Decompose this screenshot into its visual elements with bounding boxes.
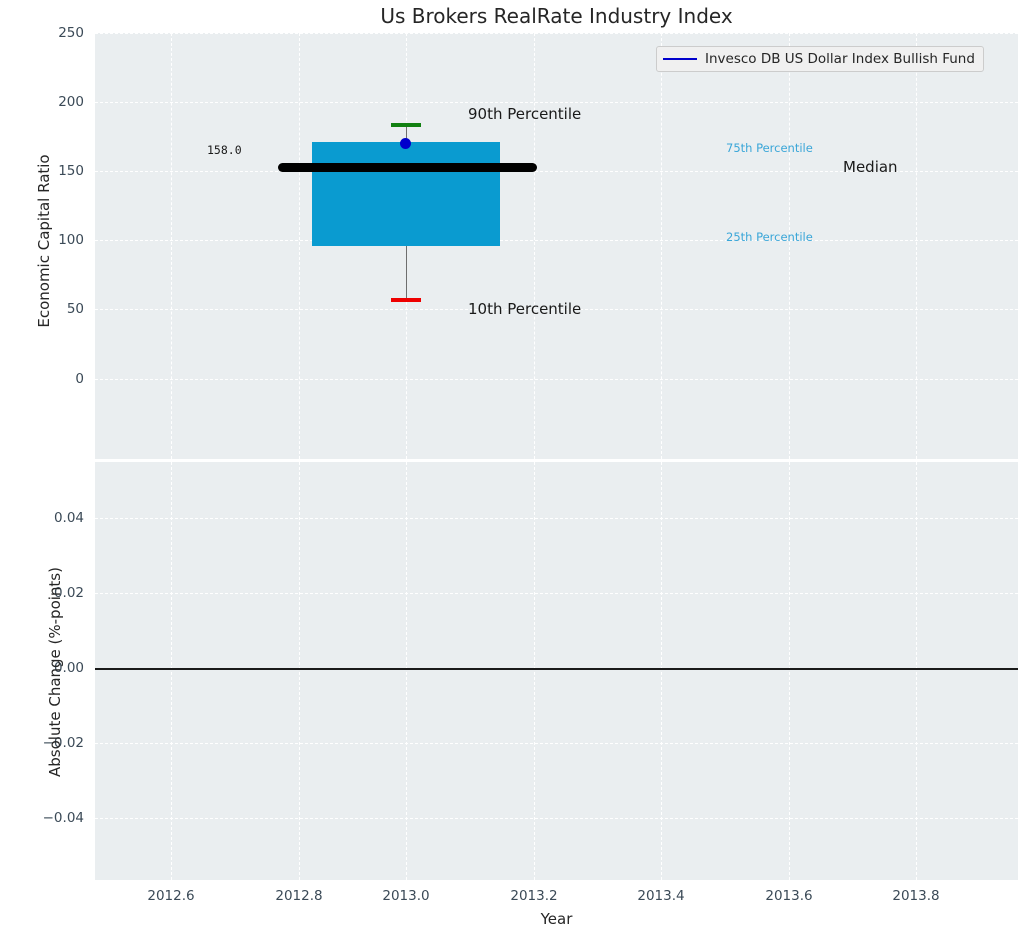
gridline-x-2012.6-lower — [171, 462, 172, 880]
ytick-bottom--0.04: −0.04 — [6, 810, 84, 826]
gridline-y-0.04 — [95, 518, 1018, 519]
legend-line-swatch — [663, 58, 697, 60]
ytick-bottom-0.00: 0.00 — [6, 660, 84, 676]
ytick-bottom-0.04: 0.04 — [6, 510, 84, 526]
subplot-economic-capital-ratio — [95, 33, 1018, 459]
zero-reference-line — [95, 668, 1018, 670]
gridline-x-2013.4-lower — [661, 462, 662, 880]
annotation-median: Median — [843, 158, 898, 176]
gridline-x-2012.6 — [171, 33, 172, 459]
annotation-25th-percentile: 25th Percentile — [726, 230, 813, 244]
gridline-x-2013.4 — [661, 33, 662, 459]
xaxis-title: Year — [95, 910, 1018, 928]
gridline-x-2012.8-lower — [299, 462, 300, 880]
median-bar — [278, 163, 537, 172]
subplot-absolute-change — [95, 462, 1018, 880]
gridline-x-2013.2 — [534, 33, 535, 459]
xtick-2013.8: 2013.8 — [892, 888, 939, 904]
xtick-2012.8: 2012.8 — [275, 888, 322, 904]
chart-legend[interactable]: Invesco DB US Dollar Index Bullish Fund — [656, 46, 984, 72]
gridline-x-2013.6 — [789, 33, 790, 459]
cap-10th-percentile — [391, 298, 421, 302]
gridline-x-2013.0-lower — [406, 462, 407, 880]
yaxis-title-bottom: Absolute Change (%-points) — [46, 482, 64, 862]
gridline-x-2012.8 — [299, 33, 300, 459]
ytick-top-200: 200 — [6, 94, 84, 110]
gridline-y-0 — [95, 379, 1018, 380]
annotation-90th-percentile: 90th Percentile — [468, 105, 581, 123]
gridline-y--0.04 — [95, 818, 1018, 819]
gridline-y-100 — [95, 240, 1018, 241]
xtick-2012.6: 2012.6 — [147, 888, 194, 904]
gridline-x-2013.8 — [916, 33, 917, 459]
chart-figure: Us Brokers RealRate Industry Index — [0, 0, 1034, 942]
xtick-2013.0: 2013.0 — [382, 888, 429, 904]
chart-title: Us Brokers RealRate Industry Index — [95, 4, 1018, 28]
annotation-75th-percentile: 75th Percentile — [726, 141, 813, 155]
series-marker-invesco — [400, 138, 411, 149]
bottom-plot-area — [95, 462, 1018, 880]
median-value-label: 158.0 — [207, 143, 242, 157]
ytick-top-0: 0 — [6, 371, 84, 387]
cap-90th-percentile — [391, 123, 421, 127]
gridline-x-2013.2-lower — [534, 462, 535, 880]
gridline-y--0.02 — [95, 743, 1018, 744]
annotation-10th-percentile: 10th Percentile — [468, 300, 581, 318]
ytick-bottom--0.02: −0.02 — [6, 735, 84, 751]
gridline-y-200 — [95, 102, 1018, 103]
xtick-2013.4: 2013.4 — [637, 888, 684, 904]
top-plot-area — [95, 33, 1018, 459]
ytick-bottom-0.02: 0.02 — [6, 585, 84, 601]
xtick-2013.6: 2013.6 — [765, 888, 812, 904]
yaxis-title-top: Economic Capital Ratio — [35, 111, 53, 371]
gridline-y-0.02 — [95, 593, 1018, 594]
ytick-top-250: 250 — [6, 25, 84, 41]
box-interquartile-range — [312, 142, 500, 246]
legend-label-invesco: Invesco DB US Dollar Index Bullish Fund — [705, 51, 975, 67]
gridline-x-2013.8-lower — [916, 462, 917, 880]
gridline-y-250 — [95, 33, 1018, 34]
xtick-2013.2: 2013.2 — [510, 888, 557, 904]
gridline-x-2013.6-lower — [789, 462, 790, 880]
